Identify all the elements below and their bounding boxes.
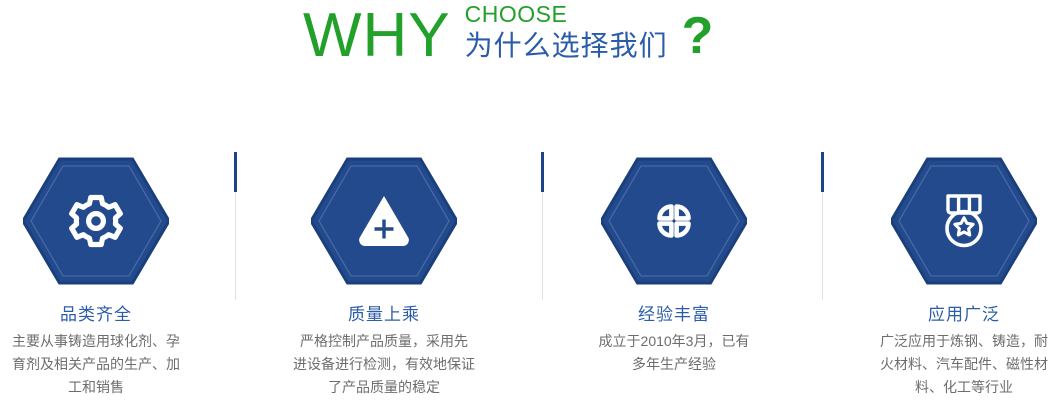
card-title: 质量上乘 [269,304,499,326]
section-heading: WHY CHOOSE 为什么选择我们 ? [0,0,1055,96]
feature-card[interactable]: 应用广泛 广泛应用于炼钢、铸造，耐 火材料、汽车配件、磁性材 料、化工等行业 [849,152,1055,399]
heading-why-text: WHY [303,4,451,68]
desc-line: 了产品质量的稳定 [273,376,495,399]
desc-line: 料、化工等行业 [853,376,1055,399]
desc-line: 广泛应用于炼钢、铸造，耐 [853,330,1055,353]
desc-line: 多年生产经验 [563,353,785,376]
desc-line: 成立于2010年3月，已有 [563,330,785,353]
hexagon-badge [269,152,499,290]
card-description: 主要从事铸造用球化剂、孕 育剂及相关产品的生产、加 工和销售 [0,330,211,399]
card-title: 品类齐全 [0,304,211,326]
card-description: 严格控制产品质量，采用先 进设备进行检测，有效地保证 了产品质量的稳定 [269,330,499,399]
feature-card[interactable]: 品类齐全 主要从事铸造用球化剂、孕 育剂及相关产品的生产、加 工和销售 [0,152,211,399]
heading-choose-text: CHOOSE [465,2,668,27]
hexagon-badge [849,152,1055,290]
clover-icon [601,157,747,285]
desc-line: 严格控制产品质量，采用先 [273,330,495,353]
card-title: 经验丰富 [559,304,789,326]
desc-line: 进设备进行检测，有效地保证 [273,353,495,376]
hexagon-badge [559,152,789,290]
heading-inner: WHY CHOOSE 为什么选择我们 ? [303,2,713,68]
desc-line: 育剂及相关产品的生产、加 [0,353,207,376]
hexagon-badge [0,152,211,290]
card-description: 成立于2010年3月，已有 多年生产经验 [559,330,789,376]
desc-line: 主要从事铸造用球化剂、孕 [0,330,207,353]
desc-line: 工和销售 [0,376,207,399]
feature-cards: 品类齐全 主要从事铸造用球化剂、孕 育剂及相关产品的生产、加 工和销售 质量 [0,152,1055,416]
question-mark-icon: ? [682,10,714,68]
gear-icon [23,157,169,285]
heading-chinese-text: 为什么选择我们 [465,30,668,62]
heading-middle-block: CHOOSE 为什么选择我们 [465,2,668,68]
why-choose-us-section: WHY CHOOSE 为什么选择我们 ? [0,0,1055,416]
triangle-plus-icon [311,157,457,285]
card-description: 广泛应用于炼钢、铸造，耐 火材料、汽车配件、磁性材 料、化工等行业 [849,330,1055,399]
feature-card[interactable]: 质量上乘 严格控制产品质量，采用先 进设备进行检测，有效地保证 了产品质量的稳定 [269,152,499,399]
card-title: 应用广泛 [849,304,1055,326]
desc-line: 火材料、汽车配件、磁性材 [853,353,1055,376]
medal-icon [891,157,1037,285]
feature-card[interactable]: 经验丰富 成立于2010年3月，已有 多年生产经验 [559,152,789,376]
